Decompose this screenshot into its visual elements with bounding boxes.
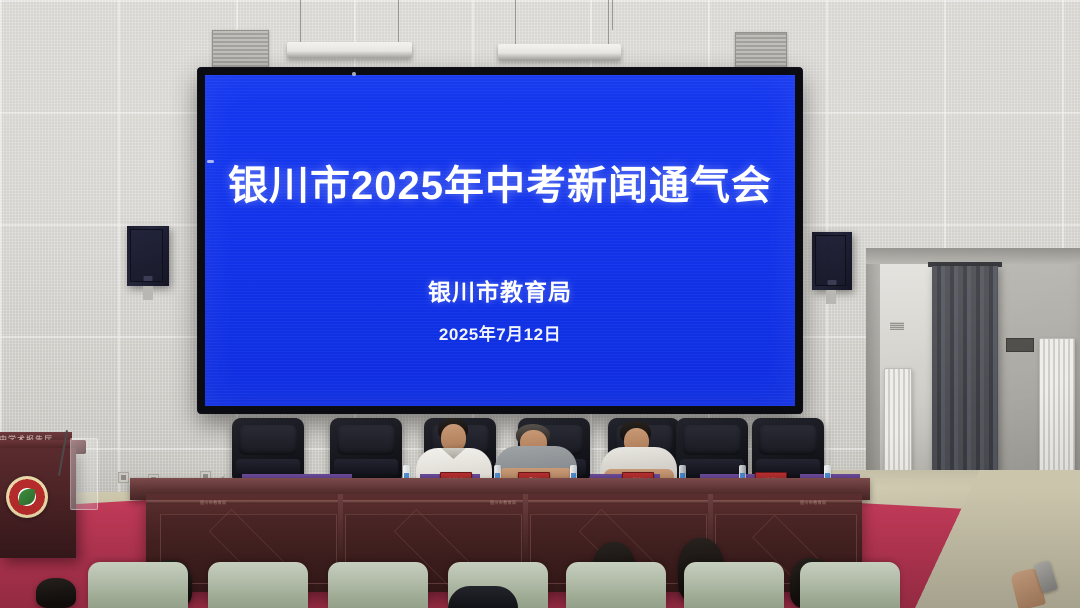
school-crest-icon [6,476,48,518]
panel-chair[interactable] [232,418,304,480]
speaker-bracket [143,286,153,300]
audience-seat[interactable] [800,562,900,608]
wall-speaker-left [127,226,169,286]
panel-chair[interactable] [330,418,402,480]
audience-seat[interactable] [566,562,666,608]
screen-title: 银川市2025年中考新闻通气会 [205,153,795,211]
panel-chair[interactable] [676,418,748,480]
speaker-badge-icon [144,276,153,281]
wall-outlet[interactable] [118,472,129,483]
panel-chair[interactable] [752,418,824,480]
acrylic-shield [70,438,98,510]
audience-head [36,578,76,608]
screen-date: 2025年7月12日 [205,320,795,345]
audience-seat[interactable] [208,562,308,608]
audience-seat[interactable] [328,562,428,608]
table-edge-label: 银川市教育局 [200,500,226,506]
screen-reflection-speck [207,160,214,163]
screen-reflection-speck [352,72,356,76]
led-display-screen[interactable]: 银川市2025年中考新闻通气会 银川市教育局 2025年7月12日 [205,75,795,406]
speaker-badge-icon [828,280,837,285]
audience-shoulder [448,586,518,608]
speaker-bracket [826,290,836,304]
audience-seat[interactable] [88,562,188,608]
wall-speaker-right [812,232,852,290]
screen-organization: 银川市教育局 [205,273,795,307]
audience-seat[interactable] [684,562,784,608]
speaker-grille [815,235,846,286]
table-edge-label: 银川市教育局 [490,500,516,506]
conference-hall-photo: 银川市2025年中考新闻通气会 银川市教育局 2025年7月12日 [0,0,1080,608]
table-edge-label: 银川市教育局 [800,500,826,506]
led-display-frame: 银川市2025年中考新闻通气会 银川市教育局 2025年7月12日 [198,68,802,413]
speaker-grille [130,229,163,282]
